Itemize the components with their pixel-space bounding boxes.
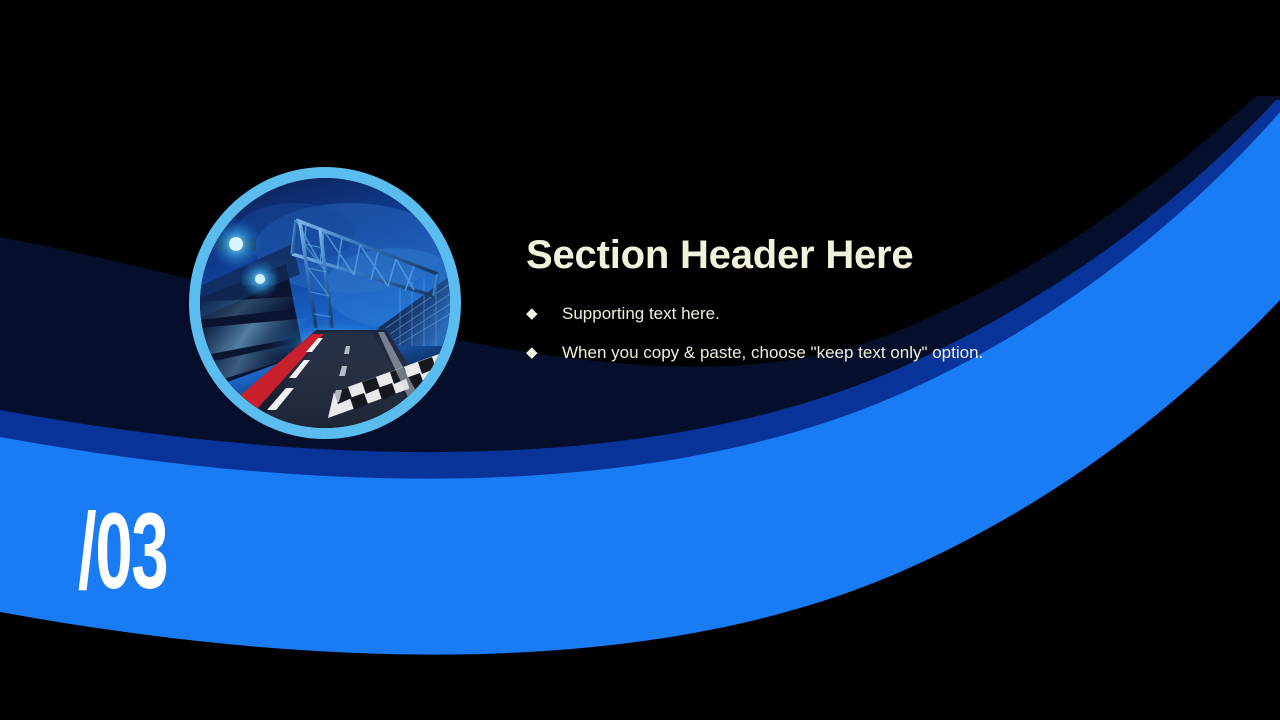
photo-circle-frame — [189, 167, 461, 439]
list-item-label: When you copy & paste, choose "keep text… — [562, 343, 983, 363]
photo-circle-image — [200, 178, 450, 428]
race-track-image — [200, 178, 450, 428]
list-item: ◆ When you copy & paste, choose "keep te… — [526, 343, 1166, 363]
diamond-bullet-icon: ◆ — [526, 304, 562, 324]
list-item: ◆ Supporting text here. — [526, 304, 1166, 324]
page-title: Section Header Here — [526, 232, 1166, 278]
slide-canvas: Section Header Here ◆ Supporting text he… — [0, 0, 1280, 720]
section-number: /03 — [78, 497, 167, 605]
list-item-label: Supporting text here. — [562, 304, 720, 324]
supporting-bullet-list: ◆ Supporting text here. ◆ When you copy … — [526, 304, 1166, 363]
swoosh-bright-blue-band — [0, 112, 1280, 655]
text-content-block: Section Header Here ◆ Supporting text he… — [526, 232, 1166, 382]
diamond-bullet-icon: ◆ — [526, 343, 562, 363]
